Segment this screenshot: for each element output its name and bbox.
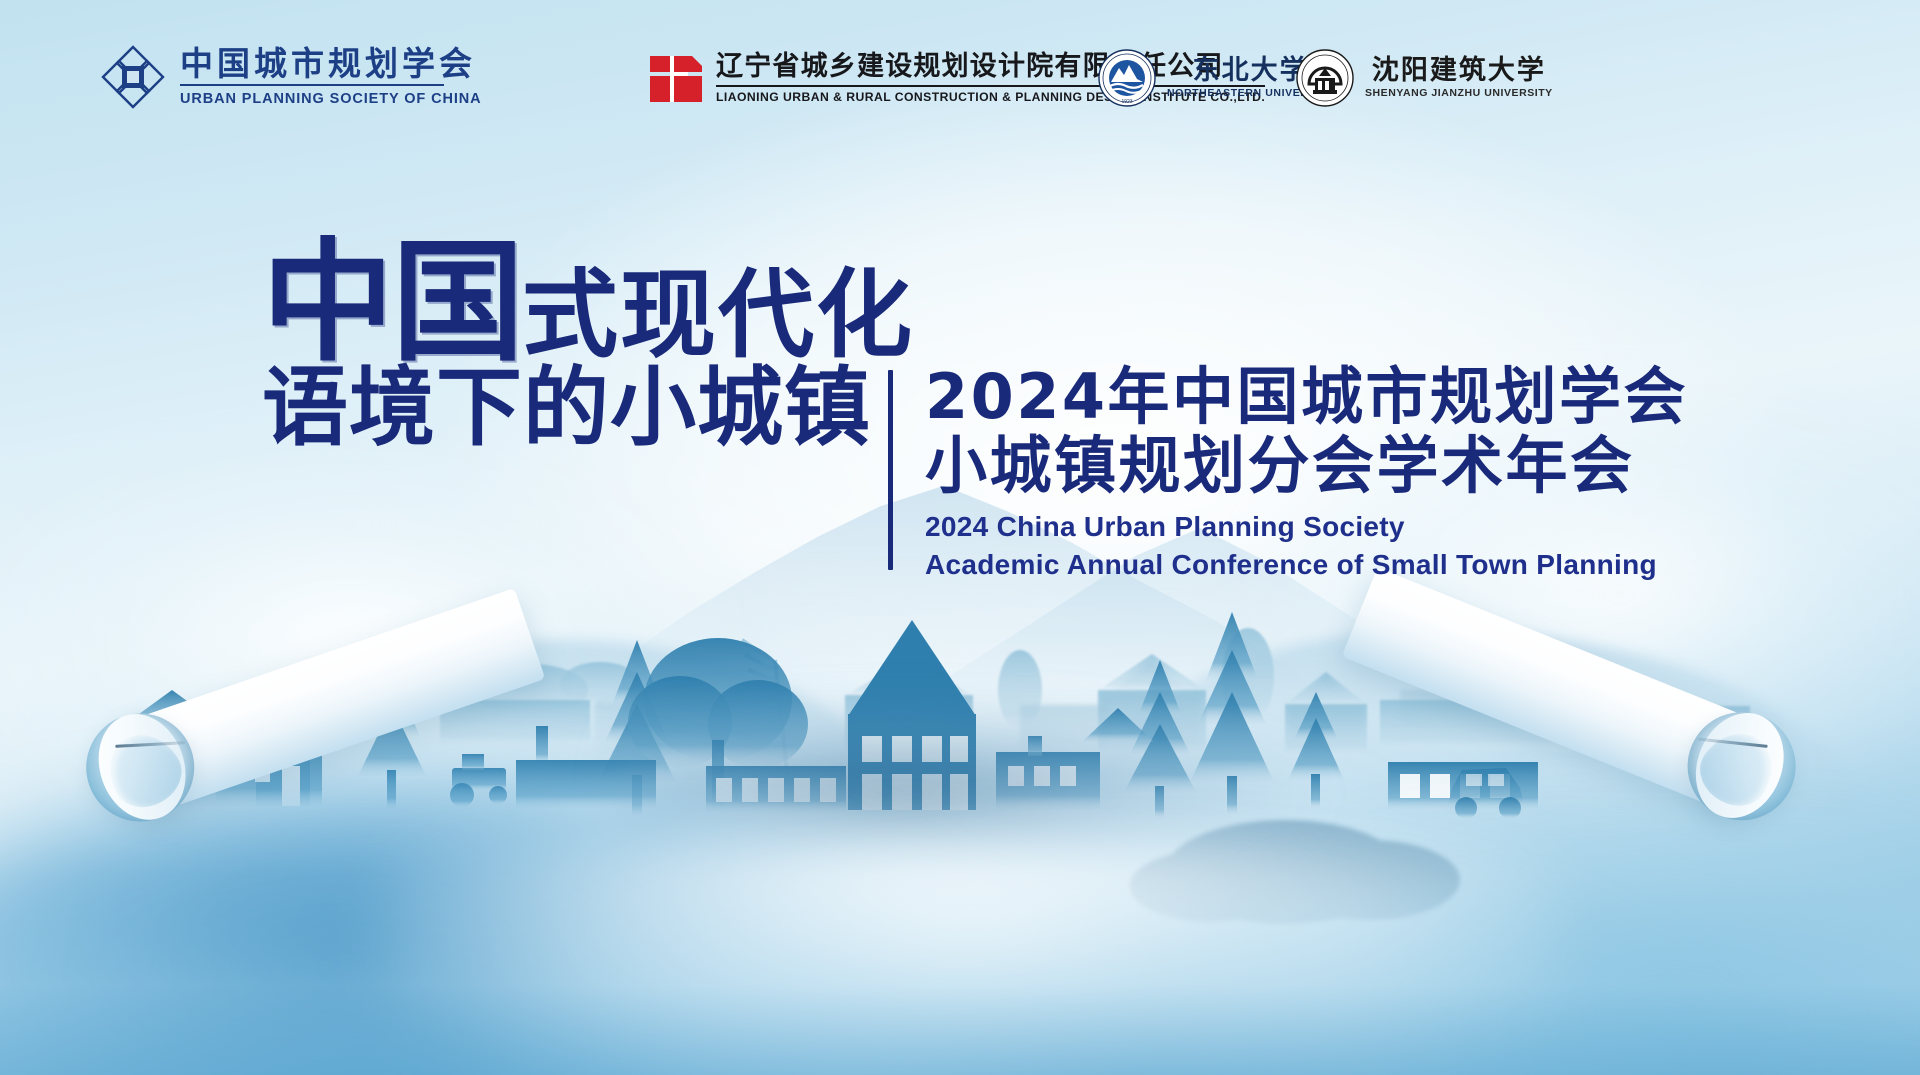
theme-line-1: 中国式现代化 — [262, 236, 902, 371]
title-divider-bar — [888, 370, 893, 570]
poster-canvas: 中国城市规划学会 URBAN PLANNING SOCIETY OF CHINA… — [0, 0, 1920, 1075]
theme-line-2: 语境下的小城镇 — [262, 365, 902, 451]
theme-brush-characters: 中国 — [262, 225, 522, 380]
conference-english-line-2: Academic Annual Conference of Small Town… — [925, 549, 1688, 581]
conference-chinese-line-2: 小城镇规划分会学术年会 — [925, 431, 1688, 500]
conference-chinese-line-1: 2024年中国城市规划学会 — [925, 362, 1688, 431]
theme-line-1-rest: 式现代化 — [522, 258, 914, 371]
conference-english-line-1: 2024 China Urban Planning Society — [925, 511, 1688, 543]
poster-theme-block: 中国式现代化 语境下的小城镇 — [262, 236, 902, 451]
conference-title-block: 2024年中国城市规划学会 小城镇规划分会学术年会 2024 China Urb… — [925, 362, 1688, 581]
title-area: 中国式现代化 语境下的小城镇 2024年中国城市规划学会 小城镇规划分会学术年会… — [0, 0, 1920, 1075]
